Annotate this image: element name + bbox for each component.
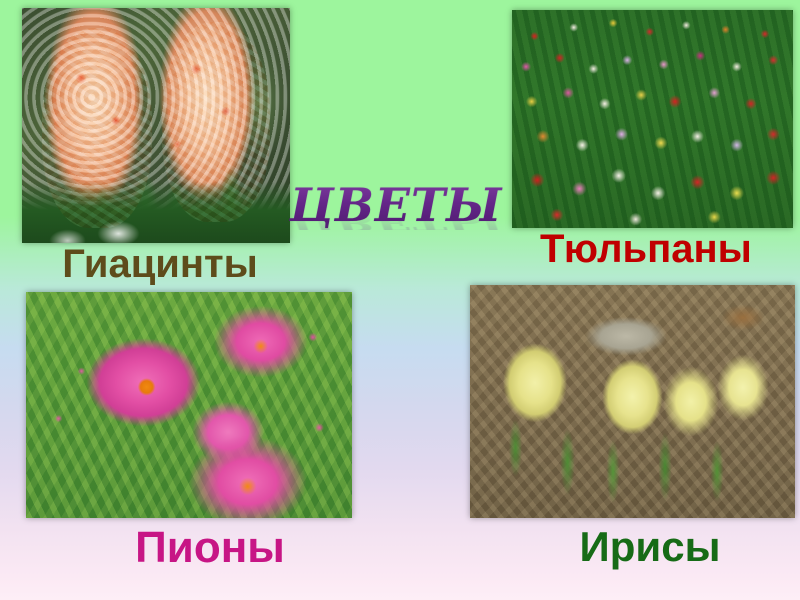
caption-tulips: Тюльпаны (540, 228, 710, 270)
photo-irises-image (470, 285, 795, 518)
slide-title-reflection: ЦВЕТЫ (276, 214, 516, 231)
slide-title-group: ЦВЕТЫ ЦВЕТЫ (276, 182, 516, 258)
caption-peonies: Пионы (60, 525, 360, 572)
photo-peonies-image (26, 292, 352, 518)
photo-hyacinths-image (22, 8, 290, 243)
photo-hyacinths (22, 8, 290, 243)
photo-tulips (512, 10, 793, 228)
slide-canvas: ЦВЕТЫ ЦВЕТЫ Гиацинты Тюльпаны Пионы Ирис… (0, 0, 800, 600)
photo-peonies (26, 292, 352, 518)
photo-irises (470, 285, 795, 518)
hyacinth-spike-right (162, 22, 270, 222)
caption-irises: Ирисы (500, 525, 800, 570)
caption-hyacinths: Гиацинты (20, 243, 300, 285)
hyacinth-spike-left (42, 28, 152, 228)
photo-tulips-image (512, 10, 793, 228)
